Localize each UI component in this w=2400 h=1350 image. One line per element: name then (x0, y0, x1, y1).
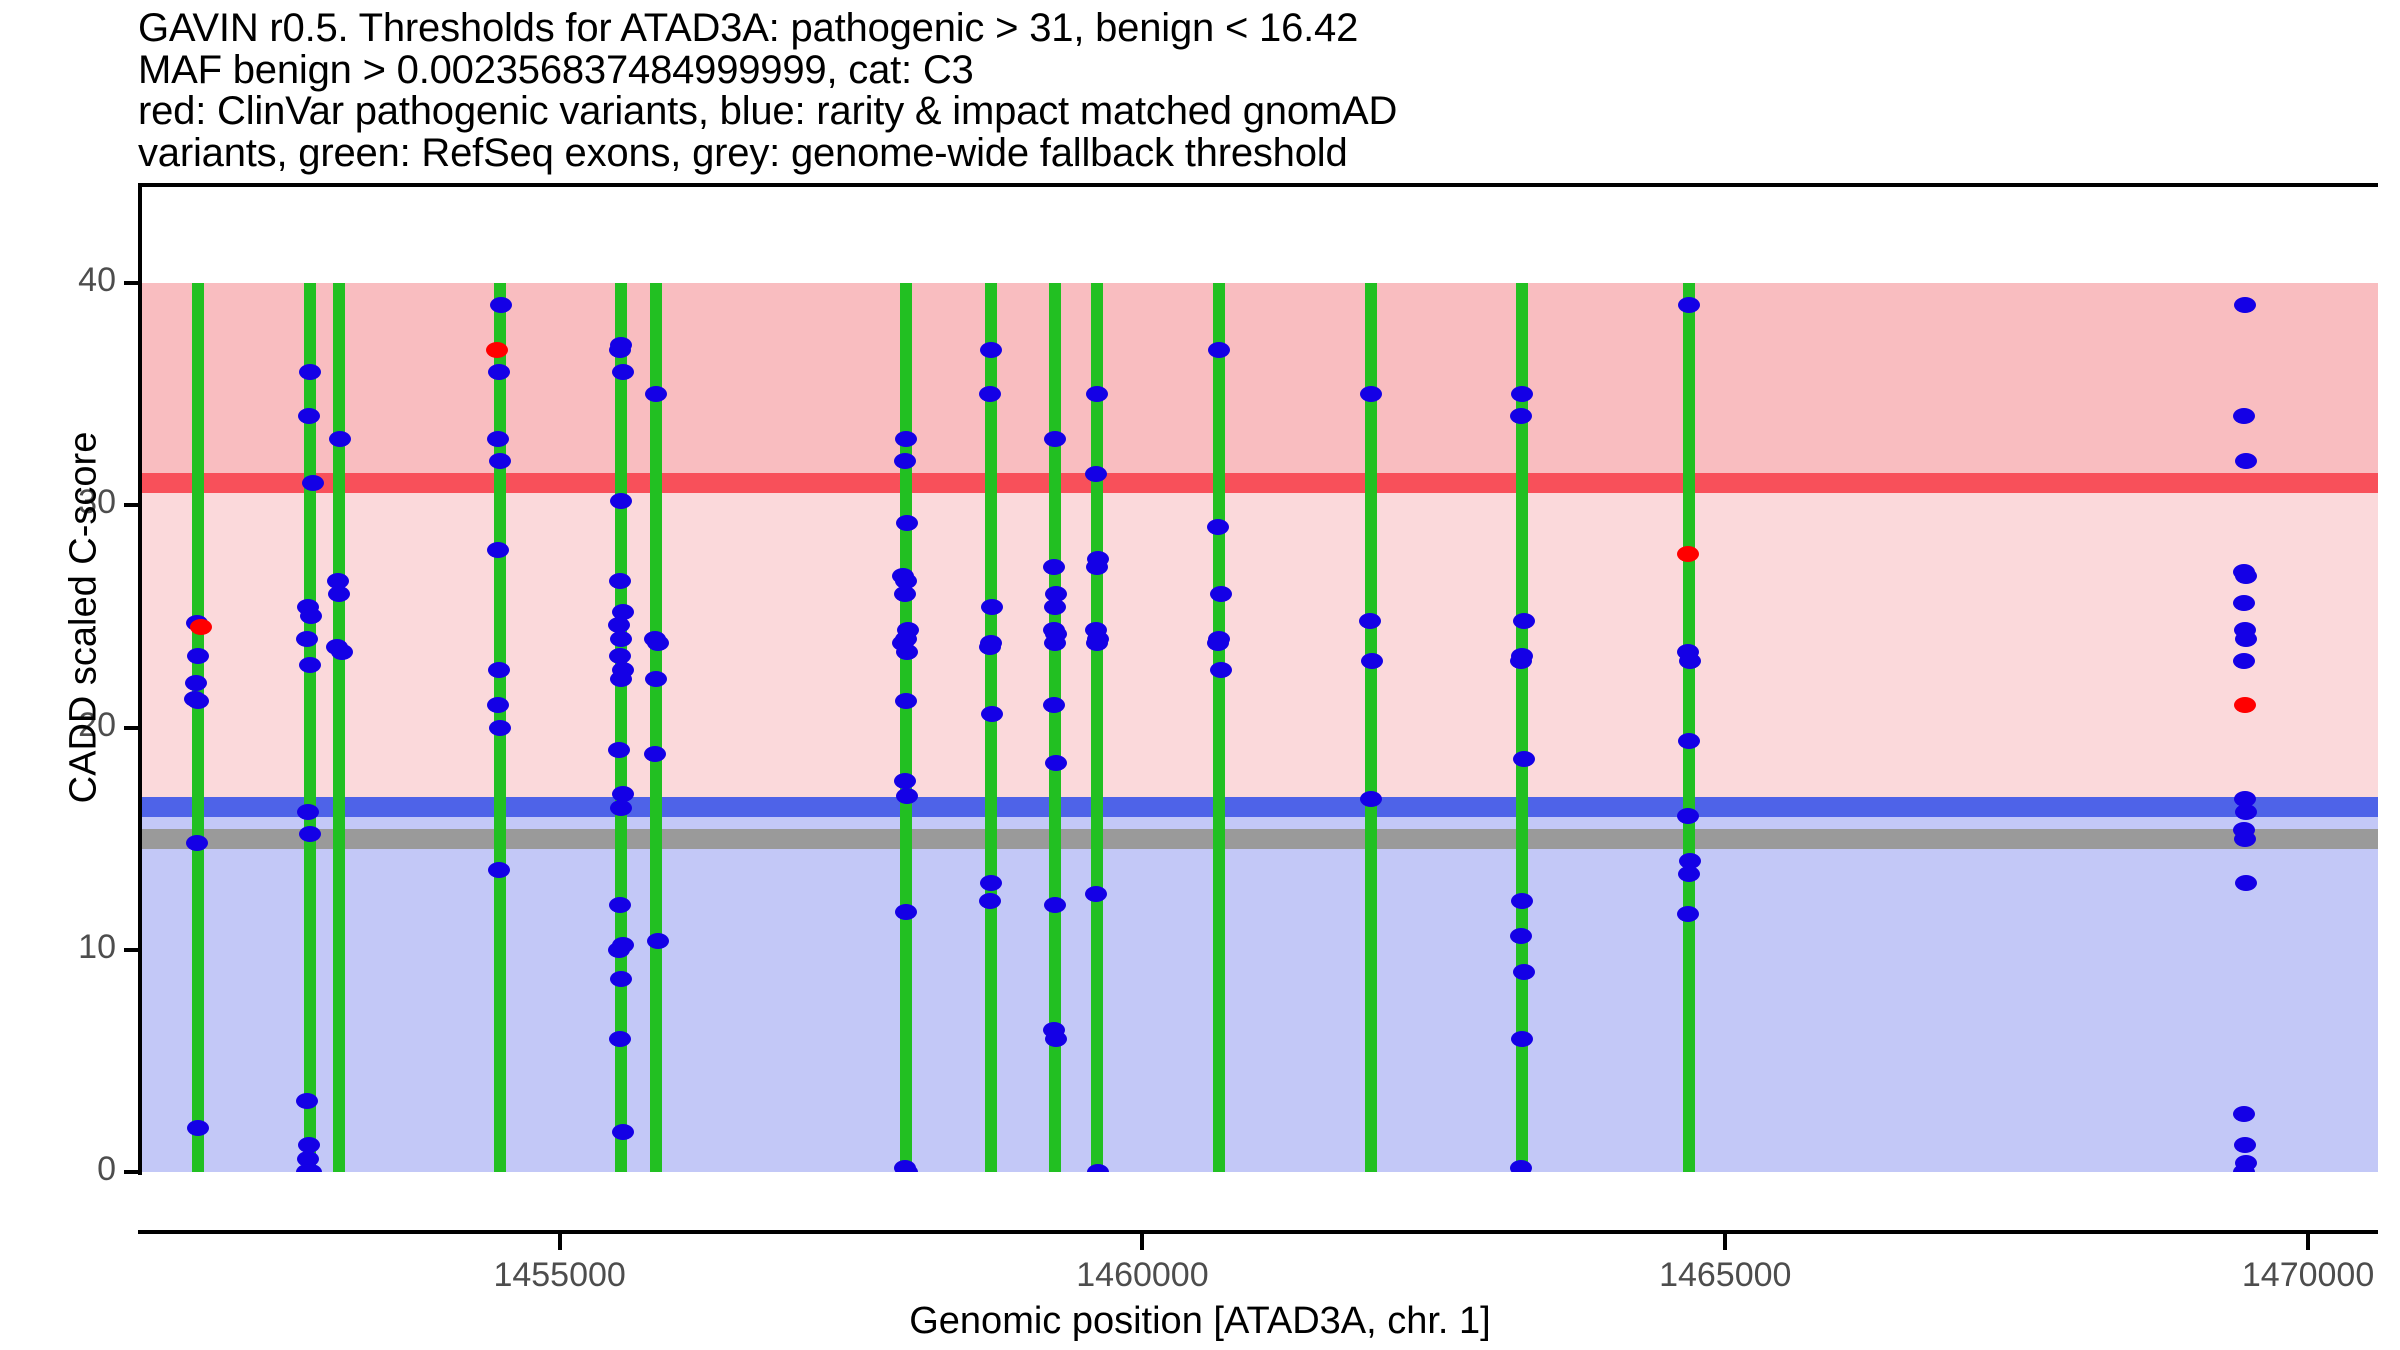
gnomad-variant-point (644, 746, 666, 762)
plot-title: GAVIN r0.5. Thresholds for ATAD3A: patho… (138, 8, 2338, 174)
refseq-exon-marker (1213, 283, 1225, 1172)
gnomad-variant-point (1513, 751, 1535, 767)
gnomad-variant-point (186, 835, 208, 851)
gnomad-variant-point (1044, 635, 1066, 651)
gnomad-variant-point (1043, 559, 1065, 575)
x-axis-tick-label: 1460000 (1076, 1256, 1208, 1295)
benign-zone (140, 849, 2378, 1172)
refseq-exon-marker (1683, 283, 1695, 1172)
y-axis-tick (124, 503, 138, 507)
x-axis-tick-label: 1465000 (1659, 1256, 1791, 1295)
gnomad-variant-point (608, 942, 630, 958)
gnomad-variant-point (610, 671, 632, 687)
gnomad-variant-point (299, 826, 321, 842)
gnomad-variant-point (1678, 866, 1700, 882)
pathogenic-zone (140, 283, 2378, 473)
gnomad-variant-point (1045, 1031, 1067, 1047)
pathogenic-threshold-line (140, 473, 2378, 493)
clinvar-pathogenic-point (486, 342, 508, 358)
gnomad-variant-point (612, 1124, 634, 1140)
gnomad-variant-point (980, 875, 1002, 891)
y-axis-tick (124, 281, 138, 285)
gnomad-variant-point (1207, 519, 1229, 535)
gnomad-variant-point (894, 586, 916, 602)
gnomad-variant-point (489, 453, 511, 469)
gnomad-variant-point (296, 631, 318, 647)
gnomad-variant-point (1510, 1160, 1532, 1172)
gnomad-variant-point (609, 897, 631, 913)
gnomad-variant-point (1510, 653, 1532, 669)
gnomad-variant-point (300, 608, 322, 624)
gnomad-variant-point (647, 933, 669, 949)
y-axis-line (138, 183, 142, 1175)
gnomad-variant-point (896, 788, 918, 804)
gnomad-variant-point (1086, 635, 1108, 651)
gnomad-variant-point (1044, 897, 1066, 913)
gnomad-variant-point (2234, 1137, 2256, 1153)
gnomad-variant-point (187, 1120, 209, 1136)
plot-panel (140, 186, 2378, 1172)
gnomad-variant-point (979, 639, 1001, 655)
gnomad-variant-point (487, 697, 509, 713)
x-axis-tick (1723, 1234, 1727, 1250)
gnomad-variant-point (894, 453, 916, 469)
gnomad-variant-point (296, 1093, 318, 1109)
gnomad-variant-point (645, 671, 667, 687)
refseq-exon-marker (192, 283, 204, 1172)
title-line-3: red: ClinVar pathogenic variants, blue: … (138, 91, 2338, 133)
gnomad-variant-point (608, 742, 630, 758)
gnomad-variant-point (895, 904, 917, 920)
gnomad-variant-point (1513, 613, 1535, 629)
x-axis-title: Genomic position [ATAD3A, chr. 1] (0, 1300, 2400, 1343)
gnomad-variant-point (298, 408, 320, 424)
y-axis-title: CADD scaled C-score (63, 178, 106, 1058)
gnomad-variant-point (1044, 599, 1066, 615)
gnomad-variant-point (895, 693, 917, 709)
gnomad-variant-point (2235, 631, 2257, 647)
x-axis-tick (2306, 1234, 2310, 1250)
vus-zone (140, 493, 2378, 797)
gnomad-variant-point (979, 386, 1001, 402)
benign-threshold-line (140, 797, 2378, 817)
gnomad-variant-point (647, 635, 669, 651)
gnomad-variant-point (1045, 755, 1067, 771)
gnomad-variant-point (980, 342, 1002, 358)
y-axis-tick (124, 948, 138, 952)
gnomad-variant-point (1513, 964, 1535, 980)
gnomad-variant-point (2235, 804, 2257, 820)
gnomad-variant-point (299, 364, 321, 380)
gnomad-variant-point (610, 971, 632, 987)
gnomad-variant-point (487, 431, 509, 447)
gnomad-variant-point (1678, 733, 1700, 749)
gnomad-variant-point (331, 644, 353, 660)
y-axis-tick-label: 0 (0, 1150, 116, 1189)
gnomad-variant-point (1677, 808, 1699, 824)
clinvar-pathogenic-point (2234, 697, 2256, 713)
gnomad-variant-point (1043, 697, 1065, 713)
gnomad-variant-point (1511, 386, 1533, 402)
gnomad-variant-point (488, 862, 510, 878)
gnomad-variant-point (2233, 408, 2255, 424)
gnomad-variant-point (2233, 653, 2255, 669)
gnomad-variant-point (1510, 408, 1532, 424)
gnomad-variant-point (2235, 453, 2257, 469)
gnomad-variant-point (1678, 297, 1700, 313)
x-axis-tick-label: 1455000 (493, 1256, 625, 1295)
gnomad-variant-point (645, 386, 667, 402)
panel-top-rule (138, 183, 2378, 187)
gnomad-variant-point (610, 493, 632, 509)
fallback-threshold-line (140, 829, 2378, 849)
x-axis-tick (1140, 1234, 1144, 1250)
gnomad-variant-point (1085, 886, 1107, 902)
gnomad-variant-point (1208, 342, 1230, 358)
gnomad-variant-point (1086, 559, 1108, 575)
gnomad-variant-point (981, 706, 1003, 722)
gnomad-variant-point (2234, 297, 2256, 313)
gnomad-variant-point (610, 631, 632, 647)
gnomad-variant-point (1359, 613, 1381, 629)
benign-upper-zone (140, 817, 2378, 829)
y-axis-tick (124, 726, 138, 730)
gnomad-variant-point (981, 599, 1003, 615)
gnomad-variant-point (487, 542, 509, 558)
gnomad-variant-point (1086, 386, 1108, 402)
refseq-exon-marker (900, 283, 912, 1172)
gnomad-variant-point (979, 893, 1001, 909)
gnomad-variant-point (2234, 831, 2256, 847)
gnomad-variant-point (1360, 386, 1382, 402)
x-axis-line (138, 1230, 2378, 1234)
gnomad-variant-point (609, 573, 631, 589)
gnomad-variant-point (2235, 875, 2257, 891)
gnomad-variant-point (185, 675, 207, 691)
refseq-exon-marker (985, 283, 997, 1172)
clinvar-pathogenic-point (190, 619, 212, 635)
gnomad-variant-point (2233, 595, 2255, 611)
x-axis-tick (558, 1234, 562, 1250)
gnomad-variant-point (329, 431, 351, 447)
clinvar-pathogenic-point (1677, 546, 1699, 562)
gnomad-variant-point (297, 804, 319, 820)
gnomad-variant-point (1361, 653, 1383, 669)
gnomad-variant-point (1511, 1031, 1533, 1047)
gnomad-variant-point (2233, 1106, 2255, 1122)
gnomad-variant-point (610, 800, 632, 816)
plot-area (140, 186, 2378, 1172)
gnomad-variant-point (609, 1031, 631, 1047)
gnomad-variant-point (187, 648, 209, 664)
title-line-4: variants, green: RefSeq exons, grey: gen… (138, 133, 2338, 175)
gnomad-variant-point (1210, 586, 1232, 602)
gnomad-variant-point (612, 364, 634, 380)
x-axis-tick-label: 1470000 (2242, 1256, 2374, 1295)
refseq-exon-marker (333, 283, 345, 1172)
gnomad-variant-point (609, 342, 631, 358)
gnomad-variant-point (2235, 568, 2257, 584)
gnomad-variant-point (1210, 662, 1232, 678)
gnomad-variant-point (1085, 466, 1107, 482)
gnomad-variant-point (1207, 635, 1229, 651)
gnomad-variant-point (328, 586, 350, 602)
y-axis-tick (124, 1170, 138, 1174)
title-line-1: GAVIN r0.5. Thresholds for ATAD3A: patho… (138, 8, 2338, 50)
gnomad-variant-point (302, 475, 324, 491)
gnomad-variant-point (896, 515, 918, 531)
gnomad-variant-point (299, 657, 321, 673)
refseq-exon-marker (1365, 283, 1377, 1172)
refseq-exon-marker (1091, 283, 1103, 1172)
plot-root: GAVIN r0.5. Thresholds for ATAD3A: patho… (0, 0, 2400, 1350)
gnomad-variant-point (488, 662, 510, 678)
gnomad-variant-point (894, 773, 916, 789)
gnomad-variant-point (1679, 653, 1701, 669)
gnomad-variant-point (489, 720, 511, 736)
gnomad-variant-point (1044, 431, 1066, 447)
title-line-2: MAF benign > 0.002356837484999999, cat: … (138, 50, 2338, 92)
gnomad-variant-point (1510, 928, 1532, 944)
gnomad-variant-point (1511, 893, 1533, 909)
gnomad-variant-point (1677, 906, 1699, 922)
gnomad-variant-point (488, 364, 510, 380)
gnomad-variant-point (1360, 791, 1382, 807)
refseq-exon-marker (650, 283, 662, 1172)
gnomad-variant-point (187, 693, 209, 709)
gnomad-variant-point (896, 644, 918, 660)
gnomad-variant-point (895, 431, 917, 447)
gnomad-variant-point (490, 297, 512, 313)
